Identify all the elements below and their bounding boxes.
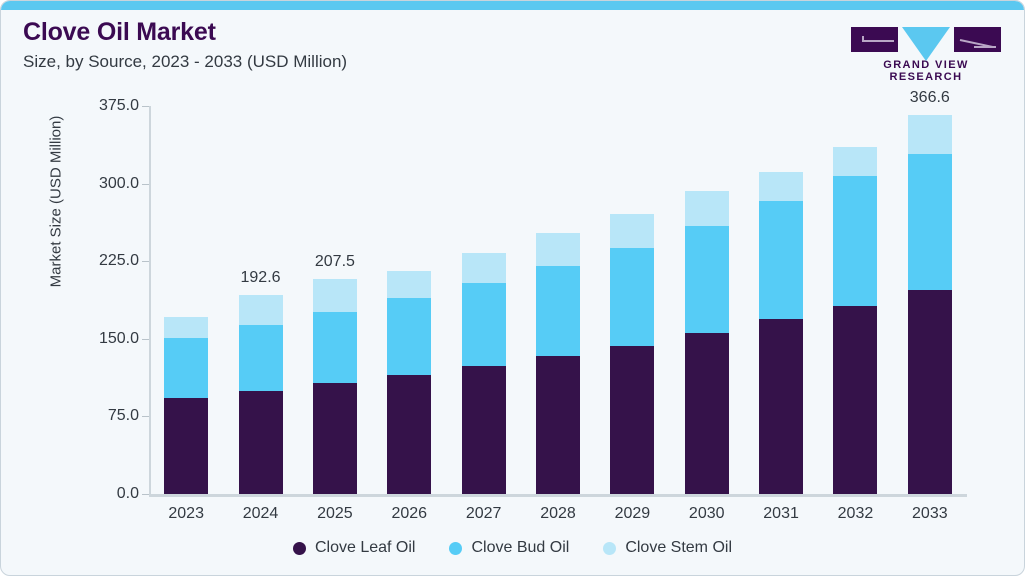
x-tick-label: 2033 [870, 505, 990, 523]
legend-swatch-icon [603, 542, 616, 555]
y-tick-mark [142, 106, 149, 107]
bar-group[interactable] [759, 106, 803, 494]
legend-label: Clove Bud Oil [471, 539, 569, 557]
bar-group[interactable] [833, 106, 877, 494]
x-axis-line [149, 494, 967, 497]
bar-segment[interactable] [610, 214, 654, 248]
bar-segment[interactable] [387, 298, 431, 375]
chart-plot-area: Market Size (USD Million) 0.075.0150.022… [1, 1, 1025, 576]
bar-group[interactable] [239, 106, 283, 494]
bar-segment[interactable] [387, 271, 431, 298]
bar-segment[interactable] [387, 375, 431, 494]
bar-value-label: 192.6 [201, 269, 321, 287]
bar-segment[interactable] [313, 383, 357, 494]
legend-item[interactable]: Clove Stem Oil [603, 539, 732, 557]
bar-segment[interactable] [759, 201, 803, 319]
bar-segment[interactable] [536, 233, 580, 266]
bar-segment[interactable] [833, 147, 877, 176]
bar-segment[interactable] [164, 338, 208, 398]
y-tick-label: 375.0 [77, 97, 139, 115]
y-tick-mark [142, 339, 149, 340]
bar-group[interactable] [685, 106, 729, 494]
y-axis-line [149, 106, 151, 494]
bar-segment[interactable] [610, 346, 654, 494]
bar-segment[interactable] [610, 248, 654, 346]
bar-segment[interactable] [313, 312, 357, 383]
legend-swatch-icon [293, 542, 306, 555]
bar-segment[interactable] [536, 266, 580, 356]
legend-item[interactable]: Clove Leaf Oil [293, 539, 416, 557]
bar-value-label: 207.5 [275, 253, 395, 271]
y-axis-title: Market Size (USD Million) [48, 92, 65, 312]
bar-segment[interactable] [833, 176, 877, 306]
bar-segment[interactable] [462, 253, 506, 283]
bar-segment[interactable] [759, 319, 803, 494]
bar-segment[interactable] [536, 356, 580, 494]
y-tick-label: 300.0 [77, 175, 139, 193]
bar-segment[interactable] [759, 172, 803, 201]
bar-segment[interactable] [908, 154, 952, 291]
bar-segment[interactable] [164, 398, 208, 494]
y-tick-mark [142, 184, 149, 185]
bar-segment[interactable] [239, 391, 283, 494]
bar-segment[interactable] [239, 325, 283, 390]
bar-group[interactable] [313, 106, 357, 494]
bar-segment[interactable] [313, 279, 357, 312]
bar-segment[interactable] [908, 115, 952, 154]
bar-segment[interactable] [908, 290, 952, 494]
chart-card: Clove Oil Market Size, by Source, 2023 -… [0, 0, 1025, 576]
legend-swatch-icon [449, 542, 462, 555]
y-tick-label: 150.0 [77, 330, 139, 348]
legend-label: Clove Stem Oil [625, 539, 732, 557]
bar-value-label: 366.6 [870, 89, 990, 107]
legend-label: Clove Leaf Oil [315, 539, 416, 557]
bar-group[interactable] [908, 106, 952, 494]
bar-group[interactable] [387, 106, 431, 494]
bar-segment[interactable] [462, 283, 506, 366]
bar-group[interactable] [462, 106, 506, 494]
y-tick-label: 75.0 [77, 407, 139, 425]
bar-segment[interactable] [833, 306, 877, 494]
bar-group[interactable] [536, 106, 580, 494]
bar-segment[interactable] [462, 366, 506, 494]
bar-segment[interactable] [685, 333, 729, 494]
y-tick-mark [142, 416, 149, 417]
bar-group[interactable] [164, 106, 208, 494]
bar-segment[interactable] [164, 317, 208, 338]
y-tick-mark [142, 494, 149, 495]
y-tick-label: 0.0 [77, 485, 139, 503]
bar-segment[interactable] [685, 191, 729, 226]
bar-segment[interactable] [685, 226, 729, 334]
bar-segment[interactable] [239, 295, 283, 326]
chart-legend: Clove Leaf OilClove Bud OilClove Stem Oi… [1, 539, 1024, 557]
legend-item[interactable]: Clove Bud Oil [449, 539, 569, 557]
y-tick-label: 225.0 [77, 252, 139, 270]
bar-group[interactable] [610, 106, 654, 494]
y-tick-mark [142, 261, 149, 262]
